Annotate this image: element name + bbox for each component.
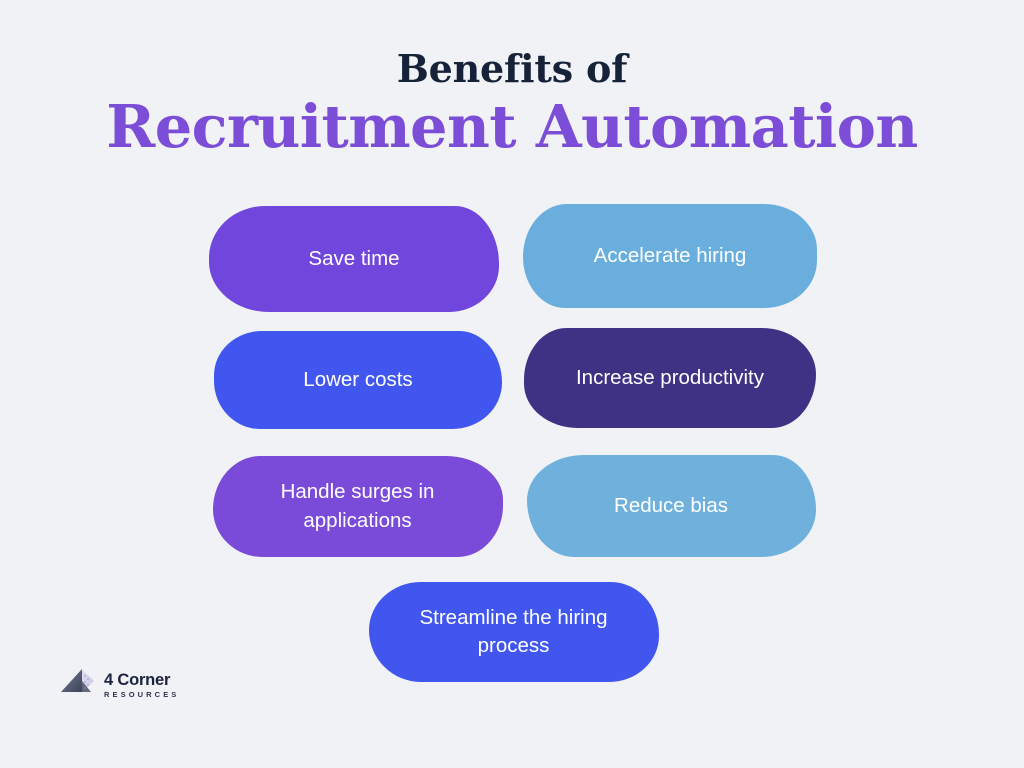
benefit-label: Save time	[308, 245, 399, 273]
benefits-row-1: Save time Accelerate hiring	[0, 204, 1024, 312]
benefits-row-3: Handle surges in applications Reduce bia…	[0, 456, 1024, 557]
benefit-label: Accelerate hiring	[594, 242, 747, 270]
benefits-row-2: Lower costs Increase productivity	[0, 330, 1024, 429]
benefit-pill-handle-surges[interactable]: Handle surges in applications	[213, 456, 503, 557]
logo-company-subtitle: RESOURCES	[104, 691, 179, 699]
logo-wordmark: 4 Corner RESOURCES	[104, 672, 179, 698]
benefits-row-4: Streamline the hiring process	[0, 582, 1024, 682]
benefit-label: Lower costs	[303, 366, 412, 394]
benefits-grid: Save time Accelerate hiring Lower costs …	[0, 204, 1024, 694]
benefit-pill-save-time[interactable]: Save time	[209, 206, 499, 312]
logo-company-name: 4 Corner	[104, 672, 179, 689]
benefit-pill-lower-costs[interactable]: Lower costs	[214, 331, 502, 429]
company-logo[interactable]: 4 Corner RESOURCES	[60, 668, 179, 702]
benefit-pill-accelerate-hiring[interactable]: Accelerate hiring	[523, 204, 817, 308]
benefit-pill-streamline-hiring-process[interactable]: Streamline the hiring process	[369, 582, 659, 682]
benefit-label: Increase productivity	[576, 364, 764, 392]
benefit-label: Handle surges in applications	[281, 478, 435, 535]
page-eyebrow-title: Benefits of	[0, 48, 1024, 89]
page-title: Recruitment Automation	[0, 95, 1024, 160]
benefit-label: Reduce bias	[614, 492, 728, 520]
benefit-pill-increase-productivity[interactable]: Increase productivity	[524, 328, 816, 428]
title-block: Benefits of Recruitment Automation	[0, 48, 1024, 160]
benefit-label: Streamline the hiring process	[419, 604, 607, 661]
four-corner-arrow-icon	[60, 668, 96, 702]
infographic-canvas: Benefits of Recruitment Automation Save …	[0, 0, 1024, 768]
benefit-pill-reduce-bias[interactable]: Reduce bias	[527, 455, 816, 557]
